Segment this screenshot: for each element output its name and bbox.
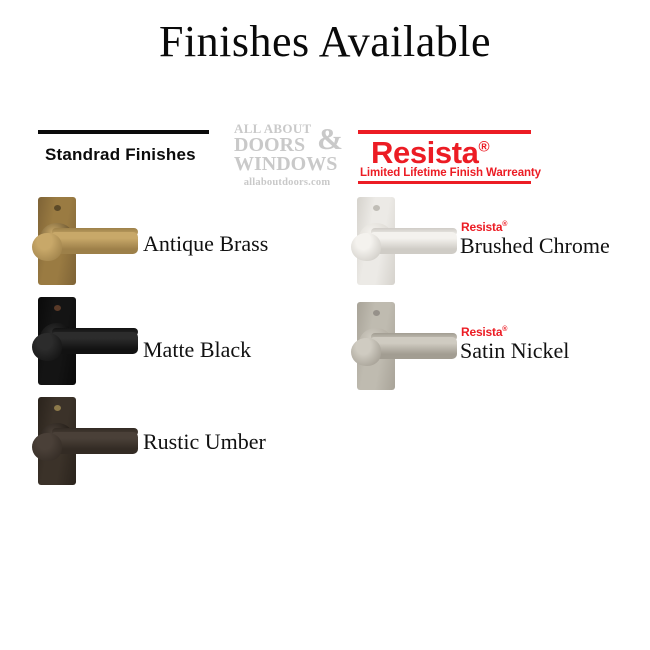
resista-brand-heading: Resista® (371, 136, 489, 170)
standard-finishes-heading: Standrad Finishes (45, 145, 196, 165)
handle-screw (54, 305, 61, 311)
finish-label-antique-brass: Antique Brass (143, 232, 268, 256)
handle-knuckle (32, 233, 62, 261)
resista-tag-text: Resista (461, 325, 502, 339)
finish-label-rustic-umber: Rustic Umber (143, 430, 266, 454)
handle-screw (373, 310, 380, 316)
resista-brand-text: Resista (371, 135, 479, 170)
standard-column-divider-bar (38, 130, 209, 134)
page-title: Finishes Available (0, 18, 650, 66)
handle-lever (52, 332, 138, 354)
handle-screw (54, 405, 61, 411)
watermark-line-3: WINDOWS (231, 155, 343, 174)
finish-label-satin-nickel: Satin Nickel (460, 339, 569, 363)
finish-label-brushed-chrome: Brushed Chrome (460, 234, 610, 258)
watermark-url: allaboutdoors.com (231, 176, 343, 189)
handle-knuckle (351, 338, 381, 366)
handle-lever (371, 232, 457, 254)
handle-lever (52, 432, 138, 454)
watermark-line-2-row: DOORS & (231, 136, 343, 155)
resista-column-divider-bar-bottom (358, 181, 531, 184)
handle-lever (52, 232, 138, 254)
registered-trademark-icon: ® (479, 139, 490, 156)
registered-trademark-icon: ® (502, 326, 507, 333)
handle-knuckle (32, 433, 62, 461)
finish-label-matte-black: Matte Black (143, 338, 251, 362)
watermark-ampersand: & (317, 123, 343, 154)
resista-warranty-subheading: Limited Lifetime Finish Warreanty (360, 167, 530, 179)
resista-column-divider-bar-top (358, 130, 531, 134)
handle-lever (371, 337, 457, 359)
handle-knuckle (32, 333, 62, 361)
resista-tag-text: Resista (461, 220, 502, 234)
handle-knuckle (351, 233, 381, 261)
watermark-allaboutdoors: ALL ABOUT DOORS & WINDOWS allaboutdoors.… (231, 122, 343, 189)
registered-trademark-icon: ® (502, 221, 507, 228)
handle-screw (54, 205, 61, 211)
handle-screw (373, 205, 380, 211)
